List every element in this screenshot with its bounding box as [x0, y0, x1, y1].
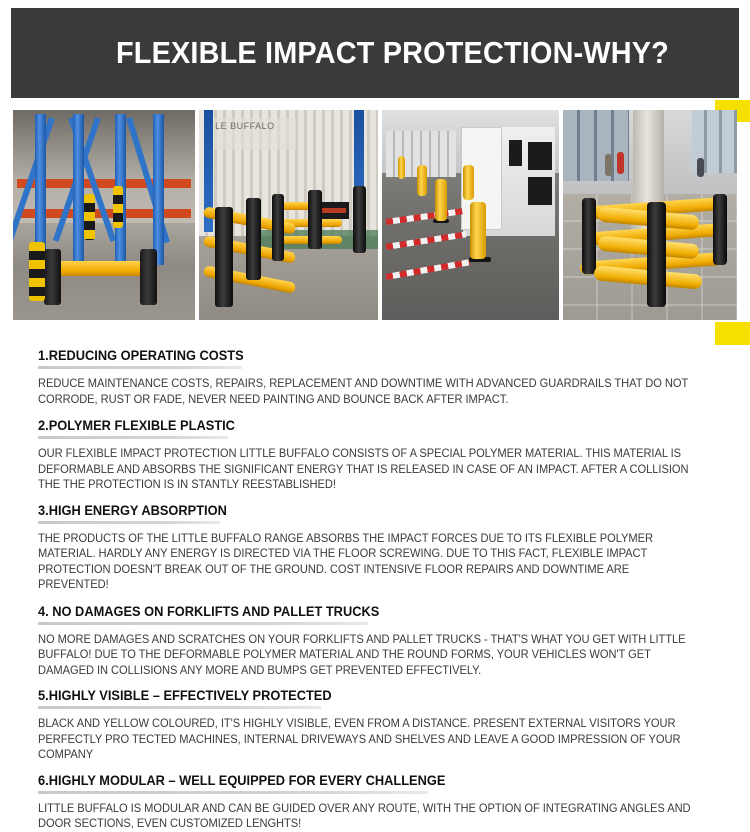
section-body: OUR FLEXIBLE IMPACT PROTECTION LITTLE BU…: [38, 446, 698, 493]
section-body: BLACK AND YELLOW COLOURED, IT'S HIGHLY V…: [38, 716, 698, 763]
section-body: LITTLE BUFFALO IS MODULAR AND CAN BE GUI…: [38, 801, 698, 832]
photo1-black-post: [44, 249, 61, 306]
section-heading: 4. NO DAMAGES ON FORKLIFTS AND PALLET TR…: [38, 604, 692, 619]
section-polymer-flexible-plastic: 2.POLYMER FLEXIBLE PLASTIC OUR FLEXIBLE …: [38, 418, 726, 493]
heading-underline: [38, 366, 242, 369]
heading-underline: [38, 622, 368, 625]
photo1-rack-upright: [153, 114, 164, 265]
heading-underline: [38, 706, 321, 709]
photo4-person: [605, 154, 612, 176]
photo3-yellow-bollard: [435, 179, 447, 221]
header-banner: FLEXIBLE IMPACT PROTECTION-WHY?: [11, 8, 739, 98]
photo3-yellow-bollard: [398, 156, 405, 179]
photo-gallery-strip: LE BUFFALO: [13, 110, 737, 320]
heading-underline: [38, 521, 220, 524]
section-highly-visible: 5.HIGHLY VISIBLE – EFFECTIVELY PROTECTED…: [38, 688, 726, 763]
section-high-energy-absorption: 3.HIGH ENERGY ABSORPTION THE PRODUCTS OF…: [38, 503, 726, 593]
gallery-photo-racking-guardrail: [13, 110, 195, 320]
heading-underline: [38, 436, 228, 439]
section-no-damages-forklifts-pallet-trucks: 4. NO DAMAGES ON FORKLIFTS AND PALLET TR…: [38, 604, 726, 679]
photo2-black-post: [353, 186, 366, 253]
gallery-photo-column-protector: [563, 110, 737, 320]
photo3-machine-cell: [509, 140, 522, 166]
photo2-black-post: [215, 207, 233, 308]
photo1-rack-upright: [73, 114, 84, 265]
photo4-black-corner-post: [647, 202, 666, 307]
page-title: FLEXIBLE IMPACT PROTECTION-WHY?: [116, 35, 669, 71]
photo3-machine-cell: [528, 177, 552, 205]
section-heading: 1.REDUCING OPERATING COSTS: [38, 348, 692, 363]
heading-underline: [38, 791, 428, 794]
photo1-striped-bollard: [84, 194, 95, 240]
photo2-black-post: [308, 190, 322, 249]
section-body: REDUCE MAINTENANCE COSTS, REPAIRS, REPLA…: [38, 376, 698, 407]
content-sections: 1.REDUCING OPERATING COSTS REDUCE MAINTE…: [38, 348, 726, 832]
photo3-yellow-bollard: [470, 202, 486, 259]
section-heading: 5.HIGHLY VISIBLE – EFFECTIVELY PROTECTED: [38, 688, 692, 703]
gallery-photo-wall-guardrail: LE BUFFALO: [199, 110, 378, 320]
photo4-person: [617, 152, 624, 174]
section-highly-modular: 6.HIGHLY MODULAR – WELL EQUIPPED FOR EVE…: [38, 773, 726, 832]
photo2-black-post: [246, 198, 261, 280]
section-body: NO MORE DAMAGES AND SCRATCHES ON YOUR FO…: [38, 632, 698, 679]
section-body: THE PRODUCTS OF THE LITTLE BUFFALO RANGE…: [38, 531, 698, 593]
section-reducing-operating-costs: 1.REDUCING OPERATING COSTS REDUCE MAINTE…: [38, 348, 726, 407]
section-heading: 6.HIGHLY MODULAR – WELL EQUIPPED FOR EVE…: [38, 773, 692, 788]
photo3-yellow-bollard: [417, 165, 427, 197]
photo1-black-post: [140, 249, 157, 306]
section-heading: 2.POLYMER FLEXIBLE PLASTIC: [38, 418, 692, 433]
photo1-striped-bollard: [29, 242, 45, 301]
yellow-accent-bottom: [715, 322, 750, 345]
photo3-machine-cell: [528, 142, 552, 170]
photo2-logo-text: LE BUFFALO: [215, 121, 275, 131]
photo4-person: [697, 158, 704, 177]
gallery-photo-bollards-floor-tape: [382, 110, 559, 320]
section-heading: 3.HIGH ENERGY ABSORPTION: [38, 503, 692, 518]
photo1-striped-bollard: [113, 186, 123, 228]
photo3-yellow-bollard: [463, 165, 474, 201]
photo4-black-post: [582, 198, 596, 274]
photo4-black-post: [713, 194, 727, 265]
photo2-black-post: [272, 194, 284, 261]
